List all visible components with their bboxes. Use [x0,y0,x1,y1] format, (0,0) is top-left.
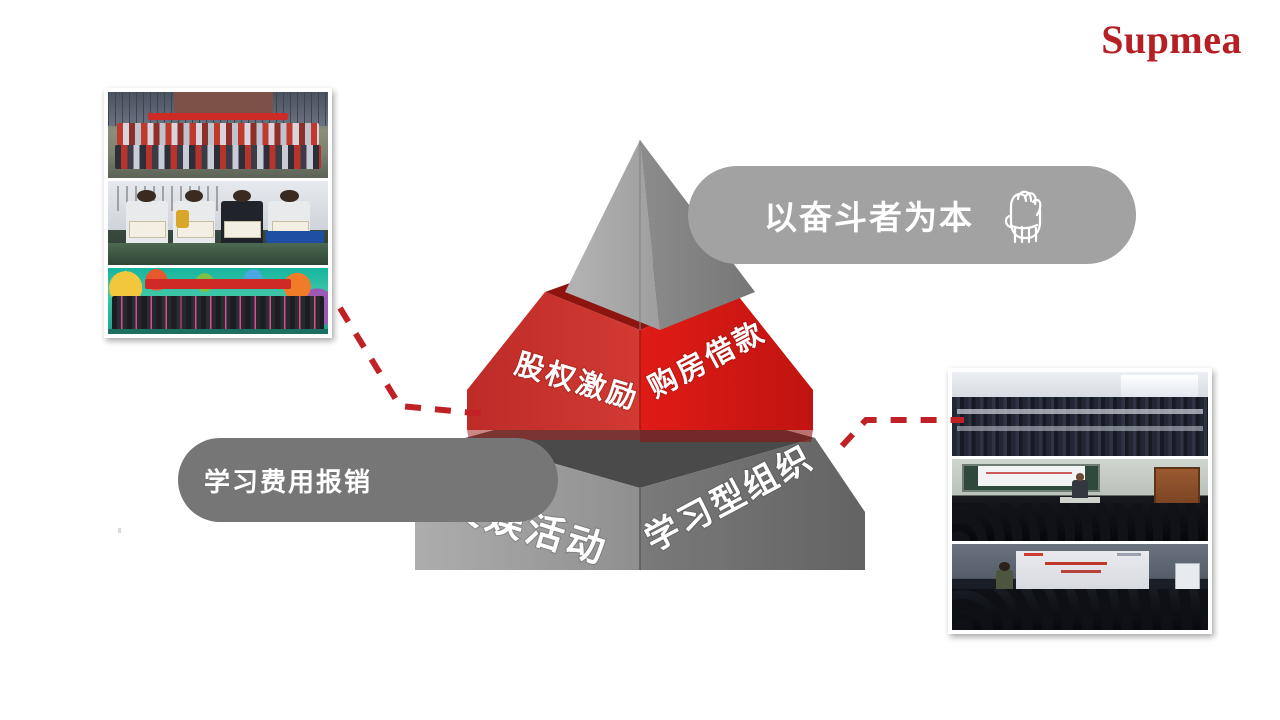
photo-award-ceremony [108,181,328,265]
supmea-logo: Supmea [1101,16,1242,63]
photo-presentation-session [952,544,1208,630]
callout-top[interactable]: 以奋斗者为本 [688,166,1136,264]
photo-stack-right [948,368,1212,634]
raised-fist-icon [1000,186,1046,244]
stray-mark [118,528,121,533]
callout-left-label: 学习费用报销 [198,462,558,499]
photo-training-hall [952,372,1208,456]
photo-sports-day-event [108,268,328,334]
photo-stack-left [104,88,332,338]
photo-outdoor-team-group [108,92,328,178]
callout-left[interactable]: 学习费用报销 [178,438,558,522]
callout-top-label: 以奋斗者为本 [764,191,974,239]
slide-canvas: Supmea 以奋斗者为本 [0,0,1280,720]
photo-lecture-hall [952,459,1208,541]
